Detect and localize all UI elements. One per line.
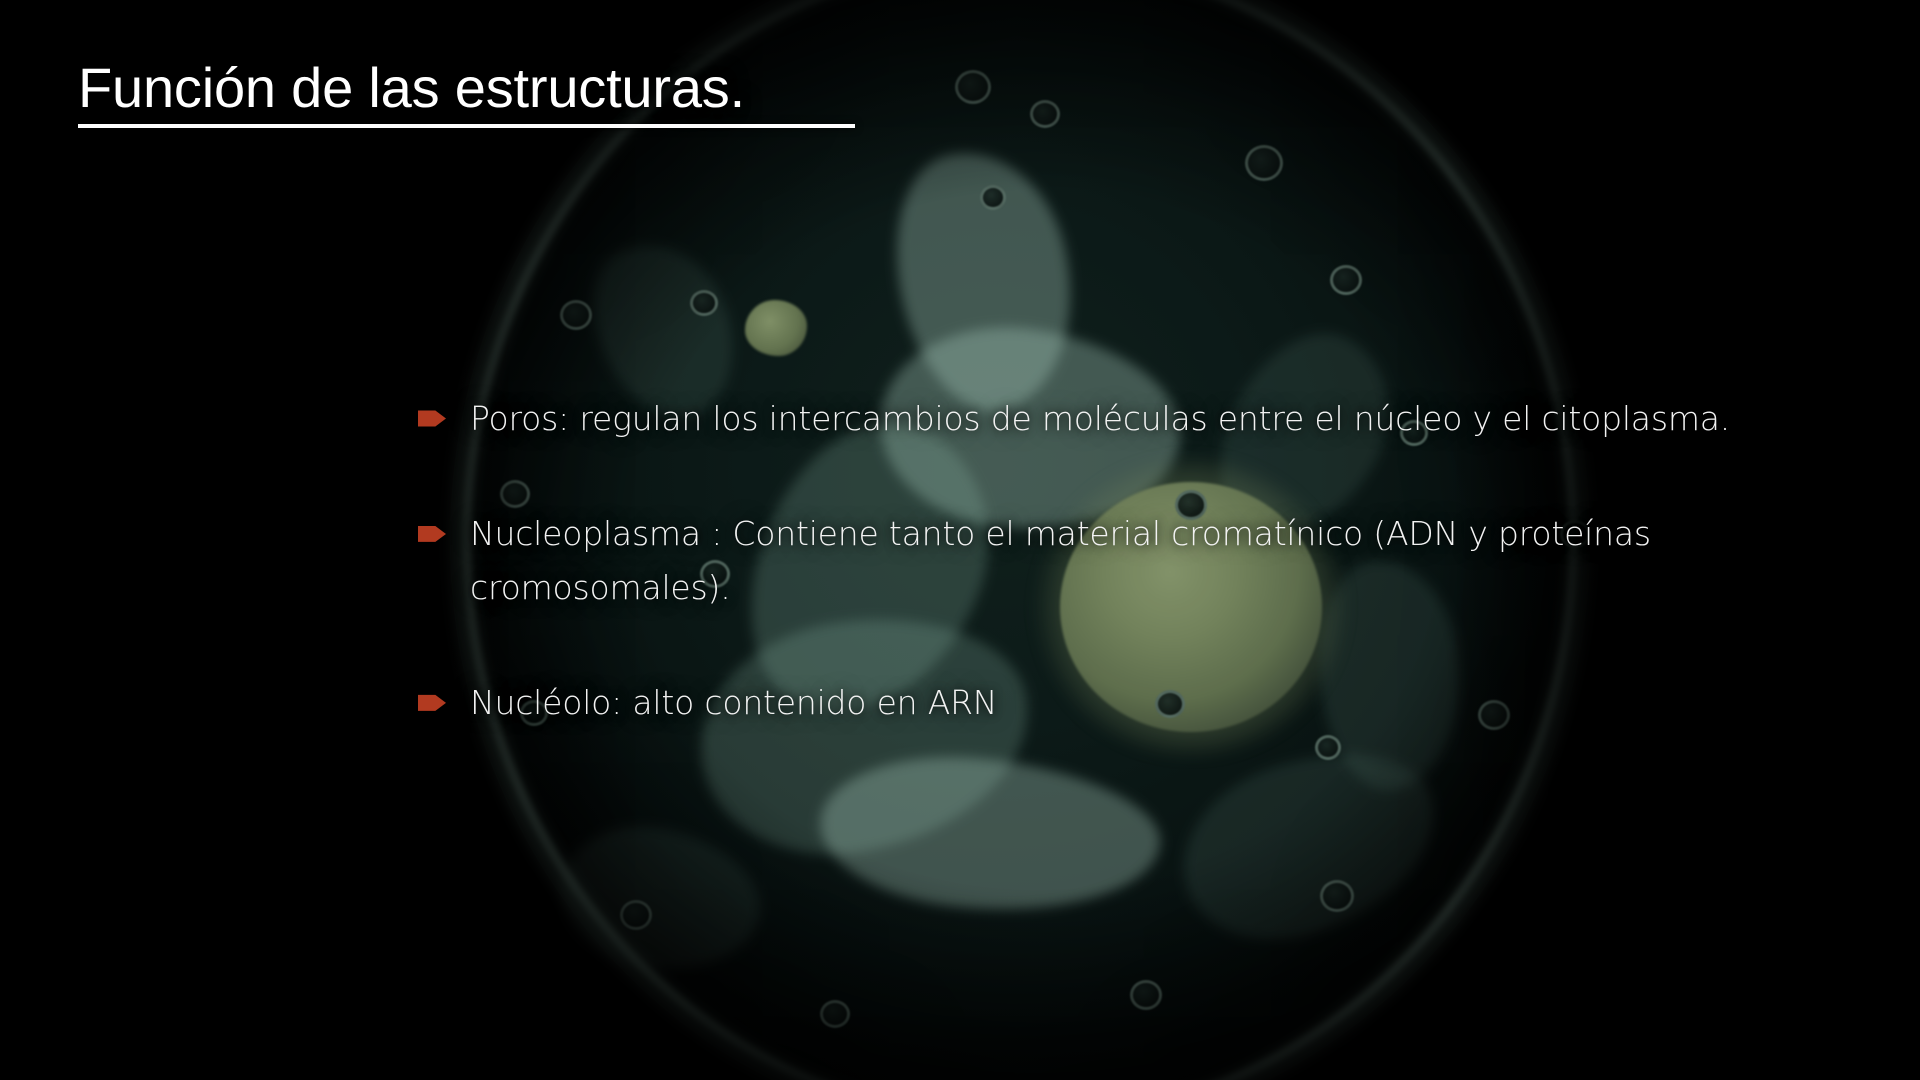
- page-title: Función de las estructuras.: [78, 58, 1078, 118]
- bullet-text: Poros: regulan los intercambios de moléc…: [470, 392, 1818, 445]
- bullet-text: Nucleoplasma : Contiene tanto el materia…: [470, 507, 1818, 614]
- bullet-list: Poros: regulan los intercambios de moléc…: [418, 392, 1818, 730]
- title-underline: [78, 124, 855, 128]
- bullet-text: Nucléolo: alto contenido en ARN: [470, 676, 1818, 729]
- list-item: Nucleoplasma : Contiene tanto el materia…: [418, 507, 1818, 614]
- presentation-slide: Función de las estructuras. Poros: regul…: [0, 0, 1920, 1080]
- arrow-bullet-icon: [418, 692, 446, 713]
- title-block: Función de las estructuras.: [78, 58, 1078, 128]
- arrow-bullet-icon: [418, 408, 446, 429]
- list-item: Poros: regulan los intercambios de moléc…: [418, 392, 1818, 445]
- list-item: Nucléolo: alto contenido en ARN: [418, 676, 1818, 729]
- arrow-bullet-icon: [418, 523, 446, 544]
